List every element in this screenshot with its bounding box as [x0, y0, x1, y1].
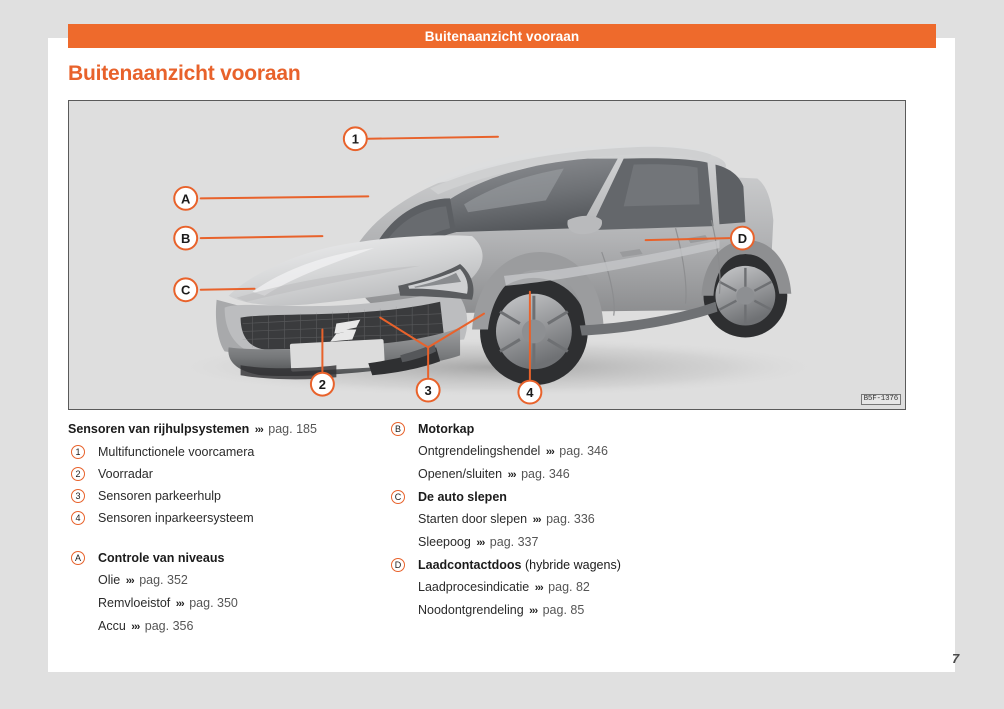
legend-subitem-label: Openen/sluiten — [418, 467, 502, 481]
page-reference: pag. 350 — [189, 596, 238, 610]
figure-callout-1: 1 — [344, 127, 367, 150]
legend-subitem-label: Olie — [98, 573, 120, 587]
chevron-icon: ››› — [527, 605, 539, 617]
legend-subitem-label: Noodontgrendeling — [418, 603, 524, 617]
legend-columns: Sensoren van rijhulpsystemen ››› pag. 18… — [68, 418, 906, 633]
figure-callout-b: B — [174, 227, 197, 250]
legend-subitem[interactable]: Openen/sluiten ››› pag. 346 — [388, 463, 778, 486]
figure-callout-2: 2 — [311, 373, 334, 396]
legend-item-label: Sensoren inparkeersysteem — [98, 511, 254, 525]
legend-marker-3: 3 — [71, 489, 85, 503]
chevron-icon: ››› — [129, 621, 141, 633]
figure-front-exterior-view: 1 A B C D 2 3 — [68, 100, 906, 410]
legend-subitem-label: Starten door slepen — [418, 512, 527, 526]
legend-item-label: Voorradar — [98, 467, 153, 481]
legend-marker-a: A — [71, 551, 85, 565]
figure-callout-c: C — [174, 278, 197, 301]
legend-marker-4: 4 — [71, 511, 85, 525]
legend-marker-1: 1 — [71, 445, 85, 459]
page-reference: pag. 185 — [268, 422, 317, 436]
legend-subitem-label: Remvloeistof — [98, 596, 170, 610]
svg-text:A: A — [181, 191, 190, 206]
page-number: 7 — [952, 651, 959, 666]
legend-group-title: Sensoren van rijhulpsystemen — [68, 422, 249, 436]
legend-marker-2: 2 — [71, 467, 85, 481]
page-reference: pag. 82 — [548, 580, 590, 594]
svg-text:C: C — [181, 283, 190, 298]
legend-subitem[interactable]: Starten door slepen ››› pag. 336 — [388, 508, 778, 531]
svg-text:3: 3 — [425, 383, 432, 398]
figure-callout-3: 3 — [417, 379, 440, 402]
page-reference: pag. 336 — [546, 512, 595, 526]
legend-marker-d: D — [391, 558, 405, 572]
figure-code-label: B5F-1376 — [861, 394, 901, 405]
legend-item[interactable]: CDe auto slepen — [388, 486, 778, 508]
chevron-icon: ››› — [124, 575, 136, 587]
chevron-icon: ››› — [533, 582, 545, 594]
legend-subitem-label: Ontgrendelingshendel — [418, 444, 540, 458]
svg-text:D: D — [738, 231, 747, 246]
legend-item-label: De auto slepen — [418, 490, 507, 504]
svg-text:4: 4 — [526, 385, 534, 400]
legend-marker-c: C — [391, 490, 405, 504]
legend-item-label: Motorkap — [418, 422, 474, 436]
legend-item-label: Controle van niveaus — [98, 551, 224, 565]
running-header-bar: Buitenaanzicht vooraan — [68, 24, 936, 48]
chevron-icon: ››› — [531, 514, 543, 526]
legend-item-label: Laadcontactdoos — [418, 558, 522, 572]
page-reference: pag. 352 — [139, 573, 188, 587]
chevron-icon: ››› — [253, 424, 265, 436]
legend-subitem[interactable]: Laadprocesindicatie ››› pag. 82 — [388, 576, 778, 599]
svg-text:1: 1 — [352, 132, 359, 147]
chevron-icon: ››› — [174, 598, 186, 610]
legend-subitem-label: Accu — [98, 619, 126, 633]
figure-callout-a: A — [174, 187, 197, 210]
legend-subitem[interactable]: Noodontgrendeling ››› pag. 85 — [388, 599, 778, 622]
legend-subitem-label: Laadprocesindicatie — [418, 580, 529, 594]
chevron-icon: ››› — [544, 446, 556, 458]
page-reference: pag. 85 — [543, 603, 585, 617]
legend-item[interactable]: DLaadcontactdoos (hybride wagens) — [388, 554, 778, 576]
page-reference: pag. 356 — [145, 619, 194, 633]
car-illustration: 1 A B C D 2 3 — [69, 101, 905, 409]
figure-callout-4: 4 — [518, 381, 541, 404]
legend-item-label: Multifunctionele voorcamera — [98, 445, 254, 459]
legend-item[interactable]: BMotorkap — [388, 418, 778, 440]
svg-text:B: B — [181, 231, 190, 246]
legend-subitem[interactable]: Sleepoog ››› pag. 337 — [388, 531, 778, 554]
legend-subitem[interactable]: Ontgrendelingshendel ››› pag. 346 — [388, 440, 778, 463]
legend-marker-b: B — [391, 422, 405, 436]
page-reference: pag. 346 — [559, 444, 608, 458]
chevron-icon: ››› — [474, 537, 486, 549]
legend-item-label: Sensoren parkeerhulp — [98, 489, 221, 503]
legend-subitem-label: Sleepoog — [418, 535, 471, 549]
page-title: Buitenaanzicht vooraan — [68, 62, 300, 86]
legend-column-right: BMotorkapOntgrendelingshendel ››› pag. 3… — [388, 418, 778, 622]
figure-callout-d: D — [731, 227, 754, 250]
page-reference: pag. 346 — [521, 467, 570, 481]
page-reference: pag. 337 — [490, 535, 539, 549]
chevron-icon: ››› — [506, 469, 518, 481]
svg-text:2: 2 — [319, 377, 326, 392]
legend-item-suffix: (hybride wagens) — [522, 558, 621, 572]
running-header-title: Buitenaanzicht vooraan — [425, 29, 579, 44]
